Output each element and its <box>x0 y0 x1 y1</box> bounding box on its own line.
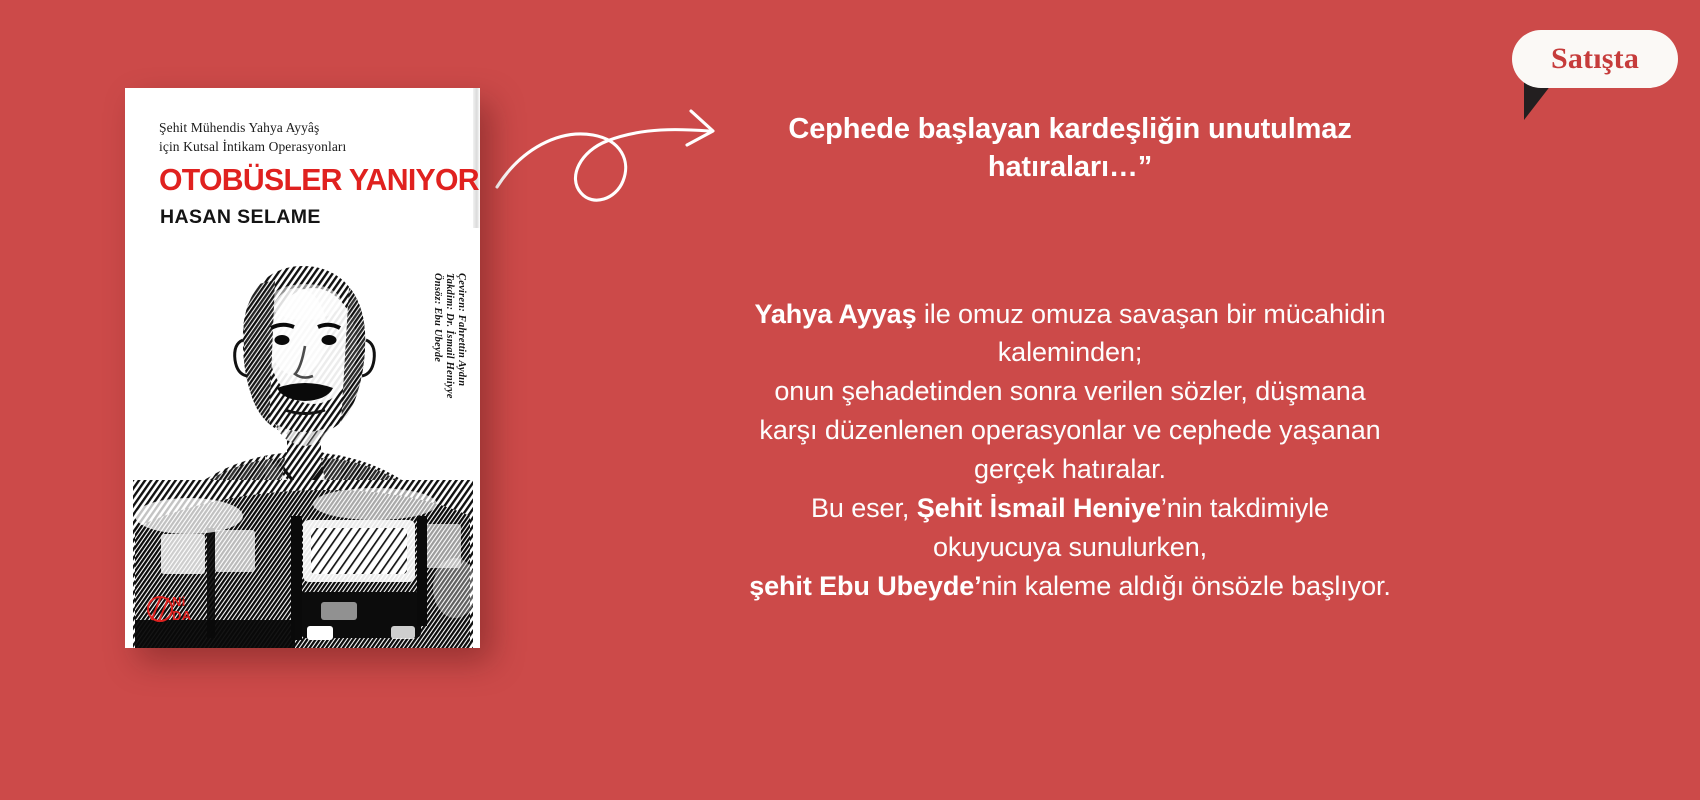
body-line-6-rest: ’nin takdimiyle <box>1161 493 1329 523</box>
book-cover-front: Şehit Mühendis Yahya Ayyâş için Kutsal İ… <box>125 88 480 648</box>
body-line-1-rest: ile omuz omuza savaşan bir mücahidin <box>917 299 1386 329</box>
status-badge-satista: Satışta <box>1512 30 1678 88</box>
halftone-illustration-icon <box>125 228 480 648</box>
badge-label: Satışta <box>1551 42 1639 76</box>
book-cover: Şehit Mühendis Yahya Ayyâş için Kutsal İ… <box>125 88 480 648</box>
body-line-1: Yahya Ayyaş ile omuz omuza savaşan bir m… <box>690 295 1450 334</box>
body-line-4: karşı düzenlenen operasyonlar ve cephede… <box>690 411 1450 450</box>
body-line-7: okuyucuya sunulurken, <box>690 528 1450 567</box>
book-subtitle-line1: Şehit Mühendis Yahya Ayyâş <box>159 118 419 137</box>
body-line-2: kaleminden; <box>690 333 1450 372</box>
book-cover-artwork <box>125 228 480 648</box>
book-credit-presenter: Takdim: Dr. İsmail Heniyye <box>444 273 455 463</box>
body-line-8-bold: şehit Ebu Ubeyde’ <box>749 571 981 601</box>
book-author: HASAN SELAME <box>160 206 321 229</box>
portrait-eye-right <box>322 335 337 345</box>
body-line-8: şehit Ebu Ubeyde’nin kaleme aldığı önsöz… <box>690 567 1450 606</box>
promo-copy: Cephede başlayan kardeşliğin unutulmaz h… <box>690 110 1450 606</box>
body-copy: Yahya Ayyaş ile omuz omuza savaşan bir m… <box>690 295 1450 606</box>
body-line-6-pre: Bu eser, <box>811 493 917 523</box>
book-subtitle: Şehit Mühendis Yahya Ayyâş için Kutsal İ… <box>159 118 419 156</box>
book-credit-foreword: Önsöz: Ebu Ubeyde <box>432 273 443 463</box>
book-title: OTOBÜSLER YANIYOR <box>159 163 479 198</box>
publisher-logo: Ni DA <box>147 594 209 634</box>
publisher-name-line2: DA <box>172 609 191 622</box>
body-line-1-bold: Yahya Ayyaş <box>754 299 916 329</box>
book-credit-translator: Çeviren: Fahrettin Aydın <box>456 273 467 463</box>
publisher-name-line1: Ni <box>172 595 186 608</box>
headline-line1: Cephede başlayan kardeşliğin unutulmaz <box>788 113 1351 145</box>
body-line-5: gerçek hatıralar. <box>690 450 1450 489</box>
body-line-6-bold: Şehit İsmail Heniye <box>917 493 1161 523</box>
body-line-6: Bu eser, Şehit İsmail Heniye’nin takdimi… <box>690 489 1450 528</box>
promotional-banner: Satışta <box>0 0 1700 800</box>
badge-bubble: Satışta <box>1512 30 1678 88</box>
portrait-eye-left <box>275 335 290 345</box>
headline: Cephede başlayan kardeşliğin unutulmaz h… <box>690 110 1450 187</box>
book-subtitle-line2: için Kutsal İntikam Operasyonları <box>159 137 419 156</box>
book-credits: Çeviren: Fahrettin Aydın Takdim: Dr. İsm… <box>432 273 467 463</box>
body-line-3: onun şehadetinden sonra verilen sözler, … <box>690 372 1450 411</box>
headline-line2: hatıraları…” <box>988 151 1152 183</box>
body-line-8-rest: nin kaleme aldığı önsözle başlıyor. <box>982 571 1391 601</box>
